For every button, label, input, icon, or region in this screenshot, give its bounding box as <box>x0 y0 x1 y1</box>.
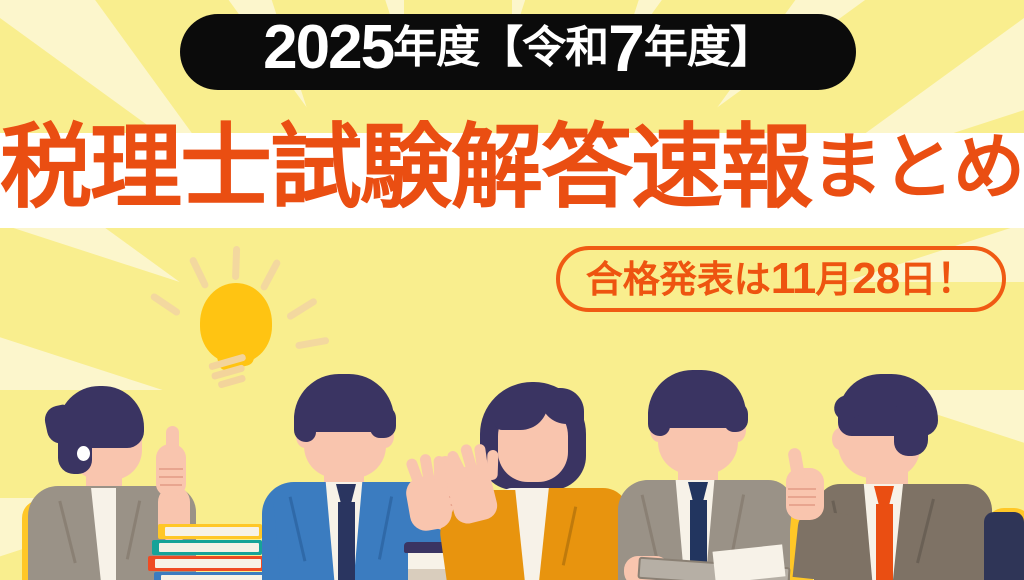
paper-sheet <box>713 544 786 580</box>
headline-exam: 税理士試験 <box>0 122 450 214</box>
year-era-suffix: 年度】 <box>644 26 773 70</box>
badge-exclamation: ！ <box>936 259 976 299</box>
result-announcement-badge: 合格発表は 11 月 28 日 ！ <box>556 246 1006 312</box>
badge-day-unit: 日 <box>899 261 936 298</box>
year-era-prefix: 年度【令和 <box>393 26 608 70</box>
banner-stage: 2025 年度【令和 7 年度】 税理士試験 解答速報 まとめ 合格発表は 11… <box>0 0 1024 580</box>
year-badge-text: 2025 年度【令和 7 年度】 <box>180 2 856 94</box>
badge-month: 11 <box>771 257 816 301</box>
badge-label: 合格発表は <box>586 261 771 298</box>
year-era-number: 7 <box>608 15 644 81</box>
year-gregorian: 2025 <box>263 17 393 79</box>
headline-answers: 解答速報 <box>451 122 811 214</box>
main-headline: 税理士試験 解答速報 まとめ <box>0 108 1024 228</box>
badge-month-unit: 月 <box>815 261 852 298</box>
headline-summary: まとめ <box>811 132 1024 204</box>
books-stack <box>148 524 268 580</box>
desk-panel <box>984 512 1024 580</box>
earring <box>77 446 90 461</box>
badge-day: 28 <box>852 257 899 301</box>
